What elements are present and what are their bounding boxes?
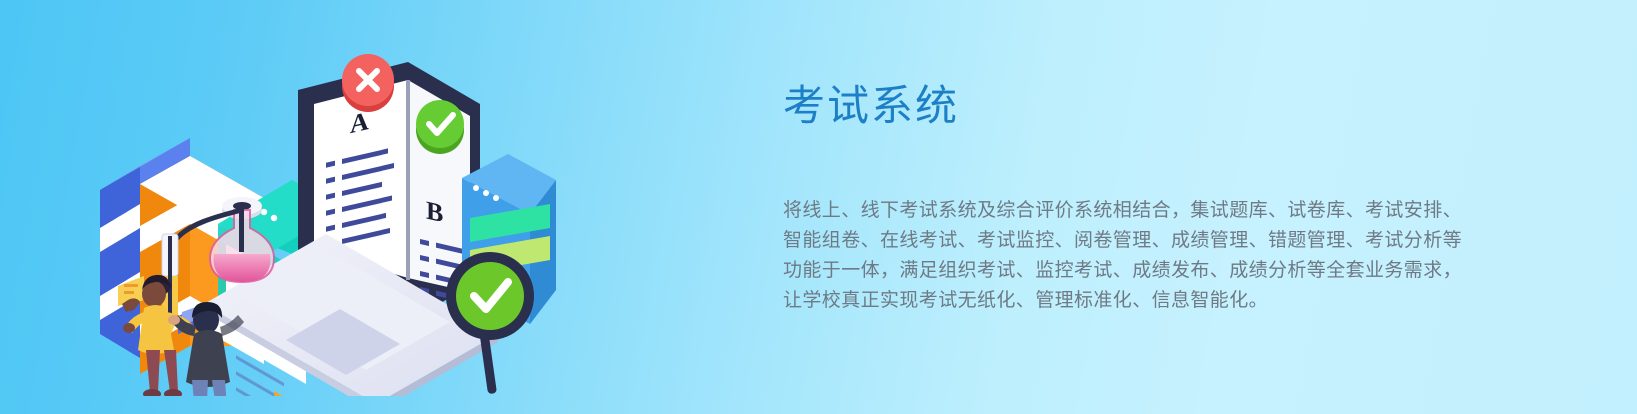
banner-copy: 考试系统 将线上、线下考试系统及综合评价系统相结合，集试题库、试卷库、考试安排、…	[783, 78, 1483, 316]
page-title: 考试系统	[783, 78, 1483, 134]
magnifier-with-check-icon	[446, 252, 534, 394]
description-line: 智能组卷、在线考试、考试监控、阅卷管理、成绩管理、错题管理、考试分析等	[783, 226, 1473, 256]
svg-text:B: B	[426, 196, 443, 229]
hero-banner: A B	[0, 0, 1637, 414]
online-exam-illustration: A B	[78, 28, 558, 396]
banner-description: 将线上、线下考试系统及综合评价系统相结合，集试题库、试卷库、考试安排、 智能组卷…	[783, 134, 1473, 316]
red-cross-badge-icon	[342, 54, 394, 112]
description-line: 让学校真正实现考试无纸化、管理标准化、信息智能化。	[783, 286, 1473, 316]
description-line: 功能于一体，满足组织考试、监控考试、成绩发布、成绩分析等全套业务需求，	[783, 256, 1473, 286]
green-check-badge-icon	[416, 100, 464, 154]
description-line: 将线上、线下考试系统及综合评价系统相结合，集试题库、试卷库、考试安排、	[783, 196, 1473, 226]
